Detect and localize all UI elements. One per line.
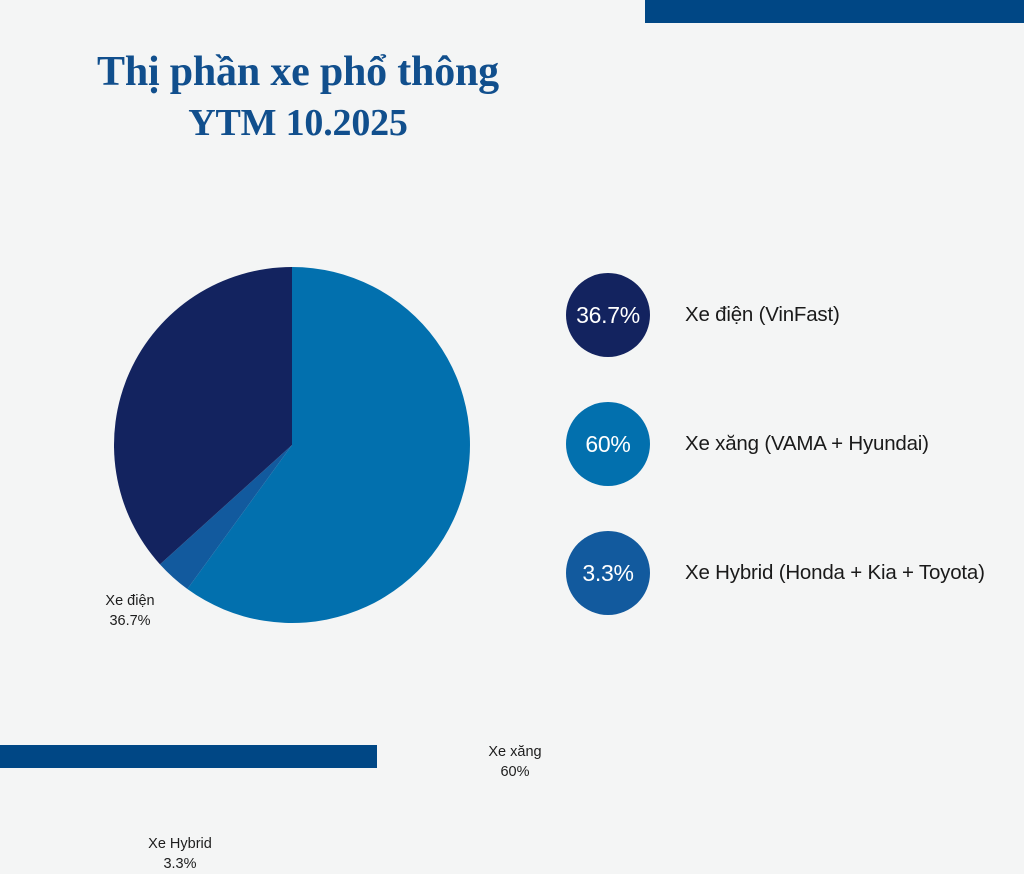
pie-label-xe-dien: Xe điện 36.7% <box>75 592 185 631</box>
page-title-line-1: Thị phần xe phổ thông <box>78 48 518 97</box>
legend-bubble-value-xe-dien: 36.7% <box>576 302 640 329</box>
pie-label-xe-xang: Xe xăng 60% <box>460 743 570 782</box>
legend-label-xe-hybrid: Xe Hybrid (Honda + Kia + Toyota) <box>685 561 985 585</box>
pie-chart: Xe điện 36.7% Xe xăng 60% Xe Hybrid 3.3% <box>30 255 550 655</box>
legend-bubble-value-xe-hybrid: 3.3% <box>582 560 633 587</box>
pie-label-xe-xang-name: Xe xăng <box>460 743 570 763</box>
page-title: Thị phần xe phổ thông YTM 10.2025 <box>78 48 518 145</box>
pie-label-xe-hybrid: Xe Hybrid 3.3% <box>115 835 245 874</box>
legend-bubble-xe-dien: 36.7% <box>566 273 650 357</box>
legend-label-xe-xang: Xe xăng (VAMA + Hyundai) <box>685 432 929 456</box>
pie-slice-group <box>114 267 470 623</box>
pie-label-xe-dien-name: Xe điện <box>75 592 185 612</box>
legend-bubble-xe-xang: 60% <box>566 402 650 486</box>
legend-item-xe-hybrid[interactable]: 3.3% Xe Hybrid (Honda + Kia + Toyota) <box>566 531 1016 615</box>
page-title-line-2: YTM 10.2025 <box>78 101 518 145</box>
decorative-bar-bottom <box>0 745 377 768</box>
pie-label-xe-hybrid-name: Xe Hybrid <box>115 835 245 855</box>
legend-bubble-value-xe-xang: 60% <box>585 431 630 458</box>
pie-label-xe-xang-value: 60% <box>460 763 570 783</box>
legend-item-xe-xang[interactable]: 60% Xe xăng (VAMA + Hyundai) <box>566 402 1016 486</box>
pie-label-xe-hybrid-value: 3.3% <box>115 855 245 874</box>
decorative-bar-top <box>645 0 1024 23</box>
legend-item-xe-dien[interactable]: 36.7% Xe điện (VinFast) <box>566 273 1016 357</box>
pie-label-xe-dien-value: 36.7% <box>75 612 185 632</box>
legend: 36.7% Xe điện (VinFast) 60% Xe xăng (VAM… <box>566 273 1016 660</box>
legend-label-xe-dien: Xe điện (VinFast) <box>685 303 840 327</box>
legend-bubble-xe-hybrid: 3.3% <box>566 531 650 615</box>
